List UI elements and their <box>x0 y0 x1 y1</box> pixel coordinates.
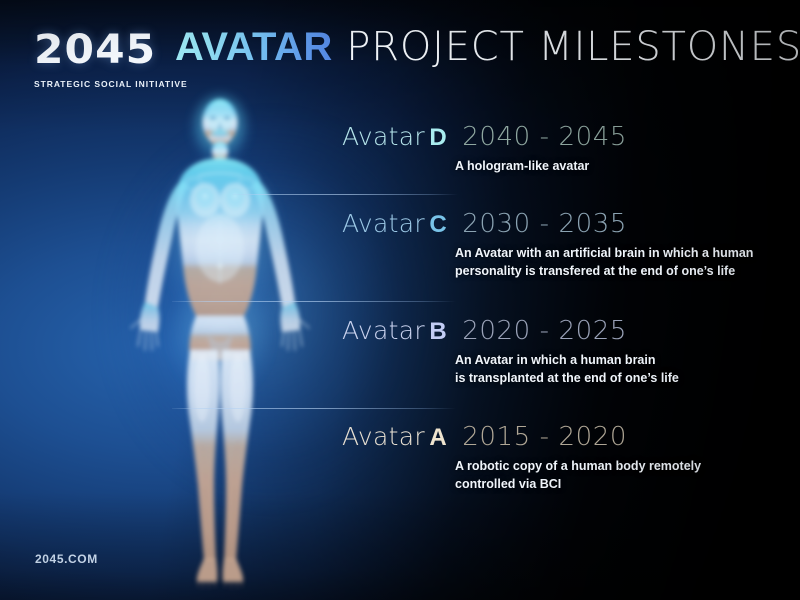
milestone-label: Avatar <box>342 422 425 451</box>
milestone-letter: B <box>429 318 446 345</box>
milestone-avatar-b: Avatar B 2020 - 2025 An Avatar in which … <box>342 318 679 388</box>
divider-line-d-c <box>232 194 458 195</box>
milestone-years: 2030 - 2035 <box>462 209 627 239</box>
milestone-years: 2020 - 2025 <box>462 316 627 346</box>
milestone-avatar-d: Avatar D 2040 - 2045 A hologram-like ava… <box>342 124 627 176</box>
milestone-description: A robotic copy of a human body remotely … <box>455 458 701 494</box>
brand-logo: 2045 STRATEGIC SOCIAL INITIATIVE <box>34 30 188 89</box>
milestone-label: Avatar <box>342 209 425 238</box>
page-title: AVATAR PROJECT MILESTONES <box>175 27 800 67</box>
milestone-heading: Avatar D 2040 - 2045 <box>342 124 627 150</box>
milestone-label: Avatar <box>342 316 425 345</box>
milestone-label: Avatar <box>342 122 425 151</box>
infographic-canvas: 2045 STRATEGIC SOCIAL INITIATIVE AVATAR … <box>0 0 800 600</box>
logo-wordmark: 2045 <box>34 30 197 70</box>
human-body-figure <box>120 88 320 588</box>
page-title-plain: PROJECT MILESTONES <box>333 24 800 70</box>
milestone-heading: Avatar C 2030 - 2035 <box>342 211 753 237</box>
page-title-accent: AVATAR <box>175 25 333 69</box>
milestone-years: 2040 - 2045 <box>462 122 627 152</box>
milestone-years: 2015 - 2020 <box>462 422 627 452</box>
divider-line-c-b <box>172 301 456 302</box>
milestone-letter: D <box>429 124 446 151</box>
divider-line-b-a <box>172 408 456 409</box>
milestone-avatar-c: Avatar C 2030 - 2035 An Avatar with an a… <box>342 211 753 281</box>
milestone-heading: Avatar A 2015 - 2020 <box>342 424 701 450</box>
milestone-letter: C <box>429 211 446 238</box>
milestone-letter: A <box>429 424 446 451</box>
milestone-description: An Avatar with an artificial brain in wh… <box>455 245 753 281</box>
footer-website: 2045.COM <box>35 552 98 566</box>
milestone-description: An Avatar in which a human brain is tran… <box>455 352 679 388</box>
milestone-description: A hologram-like avatar <box>455 158 627 176</box>
milestone-avatar-a: Avatar A 2015 - 2020 A robotic copy of a… <box>342 424 701 494</box>
milestone-heading: Avatar B 2020 - 2025 <box>342 318 679 344</box>
